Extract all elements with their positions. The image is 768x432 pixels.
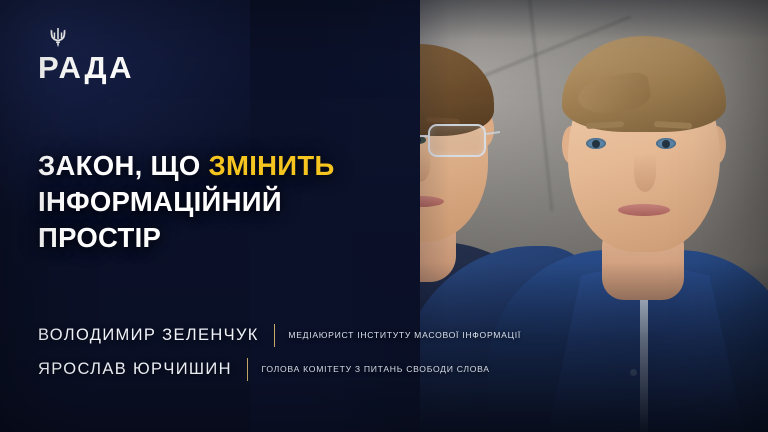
page-title: ЗАКОН, ЩО ЗМІНИТЬ ІНФОРМАЦІЙНИЙ ПРОСТІР: [38, 148, 408, 256]
title-line-1: ЗАКОН, ЩО ЗМІНИТЬ: [38, 148, 408, 184]
speaker-role: МЕДІАЮРИСТ ІНСТИТУТУ МАСОВОЇ ІНФОРМАЦІЇ: [288, 330, 521, 340]
speaker-divider: [274, 324, 276, 347]
speaker-divider: [247, 358, 249, 381]
speakers-list: ВОЛОДИМИР ЗЕЛЕНЧУК МЕДІАЮРИСТ ІНСТИТУТУ …: [38, 320, 538, 384]
title-accent-word: ЗМІНИТЬ: [208, 150, 334, 181]
title-line-2: ІНФОРМАЦІЙНИЙ: [38, 184, 408, 220]
channel-logo-text: РАДА: [38, 52, 158, 83]
speaker-row: ВОЛОДИМИР ЗЕЛЕНЧУК МЕДІАЮРИСТ ІНСТИТУТУ …: [38, 320, 538, 350]
speaker-name: ВОЛОДИМИР ЗЕЛЕНЧУК: [38, 326, 259, 345]
channel-logo[interactable]: РАДА: [38, 26, 158, 83]
speaker-role: ГОЛОВА КОМІТЕТУ З ПИТАНЬ СВОБОДИ СЛОВА: [261, 364, 489, 374]
speaker-name: ЯРОСЛАВ ЮРЧИШИН: [38, 360, 232, 379]
broadcast-title-card: РАДА ЗАКОН, ЩО ЗМІНИТЬ ІНФОРМАЦІЙНИЙ ПРО…: [0, 0, 768, 432]
content-layer: РАДА ЗАКОН, ЩО ЗМІНИТЬ ІНФОРМАЦІЙНИЙ ПРО…: [0, 0, 768, 432]
title-line-3: ПРОСТІР: [38, 220, 408, 256]
speaker-row: ЯРОСЛАВ ЮРЧИШИН ГОЛОВА КОМІТЕТУ З ПИТАНЬ…: [38, 354, 538, 384]
title-line-1-prefix: ЗАКОН, ЩО: [38, 150, 208, 181]
tryzub-icon: [48, 26, 68, 50]
